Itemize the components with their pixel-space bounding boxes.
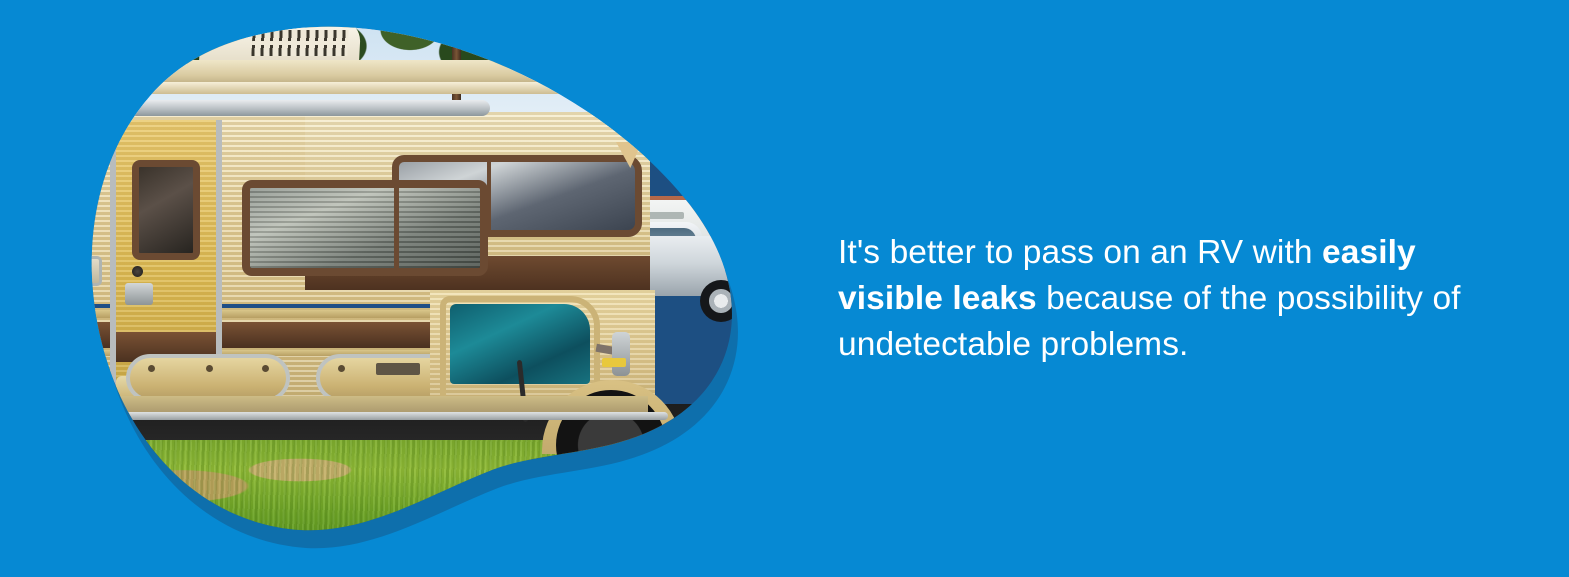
copy-lead: It's better to pass on an RV with <box>838 234 1322 271</box>
rv-roof-lip <box>80 82 640 94</box>
storage-bay-door <box>126 354 290 402</box>
entry-step <box>56 410 112 422</box>
suv-wheel <box>700 280 742 322</box>
rv-photo-blob <box>0 0 780 577</box>
exterior-hatch <box>68 256 102 286</box>
rv-side-window <box>242 180 488 276</box>
entry-door-window <box>132 160 200 260</box>
grass-lawn <box>0 440 780 577</box>
door-handle <box>125 283 153 305</box>
suv-tail-light <box>726 250 738 267</box>
motorhome <box>0 60 660 420</box>
retracted-awning <box>70 100 490 116</box>
banner-copy: It's better to pass on an RV with easily… <box>838 230 1478 368</box>
chassis-rail <box>88 412 668 420</box>
side-reflector <box>602 358 626 367</box>
window-blinds <box>250 188 480 268</box>
ac-vent-slats <box>251 30 348 56</box>
window-mullion <box>394 188 399 268</box>
rv-photo <box>0 0 780 577</box>
door-lock <box>132 266 143 277</box>
promo-banner: It's better to pass on an RV with easily… <box>0 0 1569 577</box>
tree-trunk <box>118 0 127 120</box>
side-mirror <box>612 332 630 376</box>
